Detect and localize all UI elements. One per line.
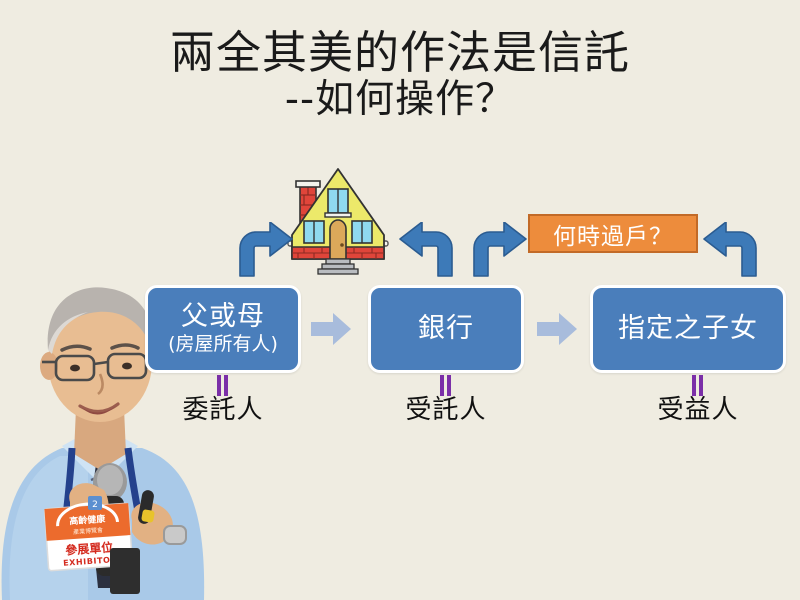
- node-sublabel-parent: (房屋所有人): [168, 333, 278, 356]
- role-text-trustee: 受託人: [356, 397, 536, 424]
- node-box-bank: 銀行: [368, 285, 524, 373]
- role-text-beneficiary: 受益人: [608, 397, 788, 424]
- callout-when-transfer: 何時過戶？: [528, 214, 698, 253]
- callout-label: 何時過戶？: [553, 217, 673, 251]
- equals-sign-icon: [691, 375, 705, 396]
- equals-sign-icon: [439, 375, 453, 396]
- house-illustration: [278, 163, 398, 275]
- curved-arrow-left-icon: [398, 222, 460, 278]
- equals-sign-icon: [216, 375, 230, 396]
- node-label-child: 指定之子女: [618, 314, 758, 344]
- curved-arrow-right-icon: [466, 222, 528, 278]
- title-line-2: --如何操作？: [0, 78, 800, 122]
- node-box-child: 指定之子女: [590, 285, 786, 373]
- curved-arrow-right-icon: [232, 222, 294, 278]
- role-label-trustee: 受託人: [356, 375, 536, 424]
- page-title: 兩全其美的作法是信託 --如何操作？: [0, 28, 800, 122]
- role-text-settlor: 委託人: [133, 397, 313, 424]
- node-label-parent: 父或母: [181, 302, 265, 332]
- node-label-bank: 銀行: [418, 314, 474, 344]
- flow-arrow-icon: [535, 311, 579, 347]
- title-line-1: 兩全其美的作法是信託: [0, 28, 800, 78]
- svg-text:2: 2: [92, 500, 98, 510]
- role-label-settlor: 委託人: [133, 375, 313, 424]
- flow-arrow-icon: [309, 311, 353, 347]
- role-label-beneficiary: 受益人: [608, 375, 788, 424]
- node-box-parent: 父或母 (房屋所有人): [145, 285, 301, 373]
- curved-arrow-left-icon: [702, 222, 764, 278]
- slide-canvas: 兩全其美的作法是信託 --如何操作？: [0, 0, 800, 600]
